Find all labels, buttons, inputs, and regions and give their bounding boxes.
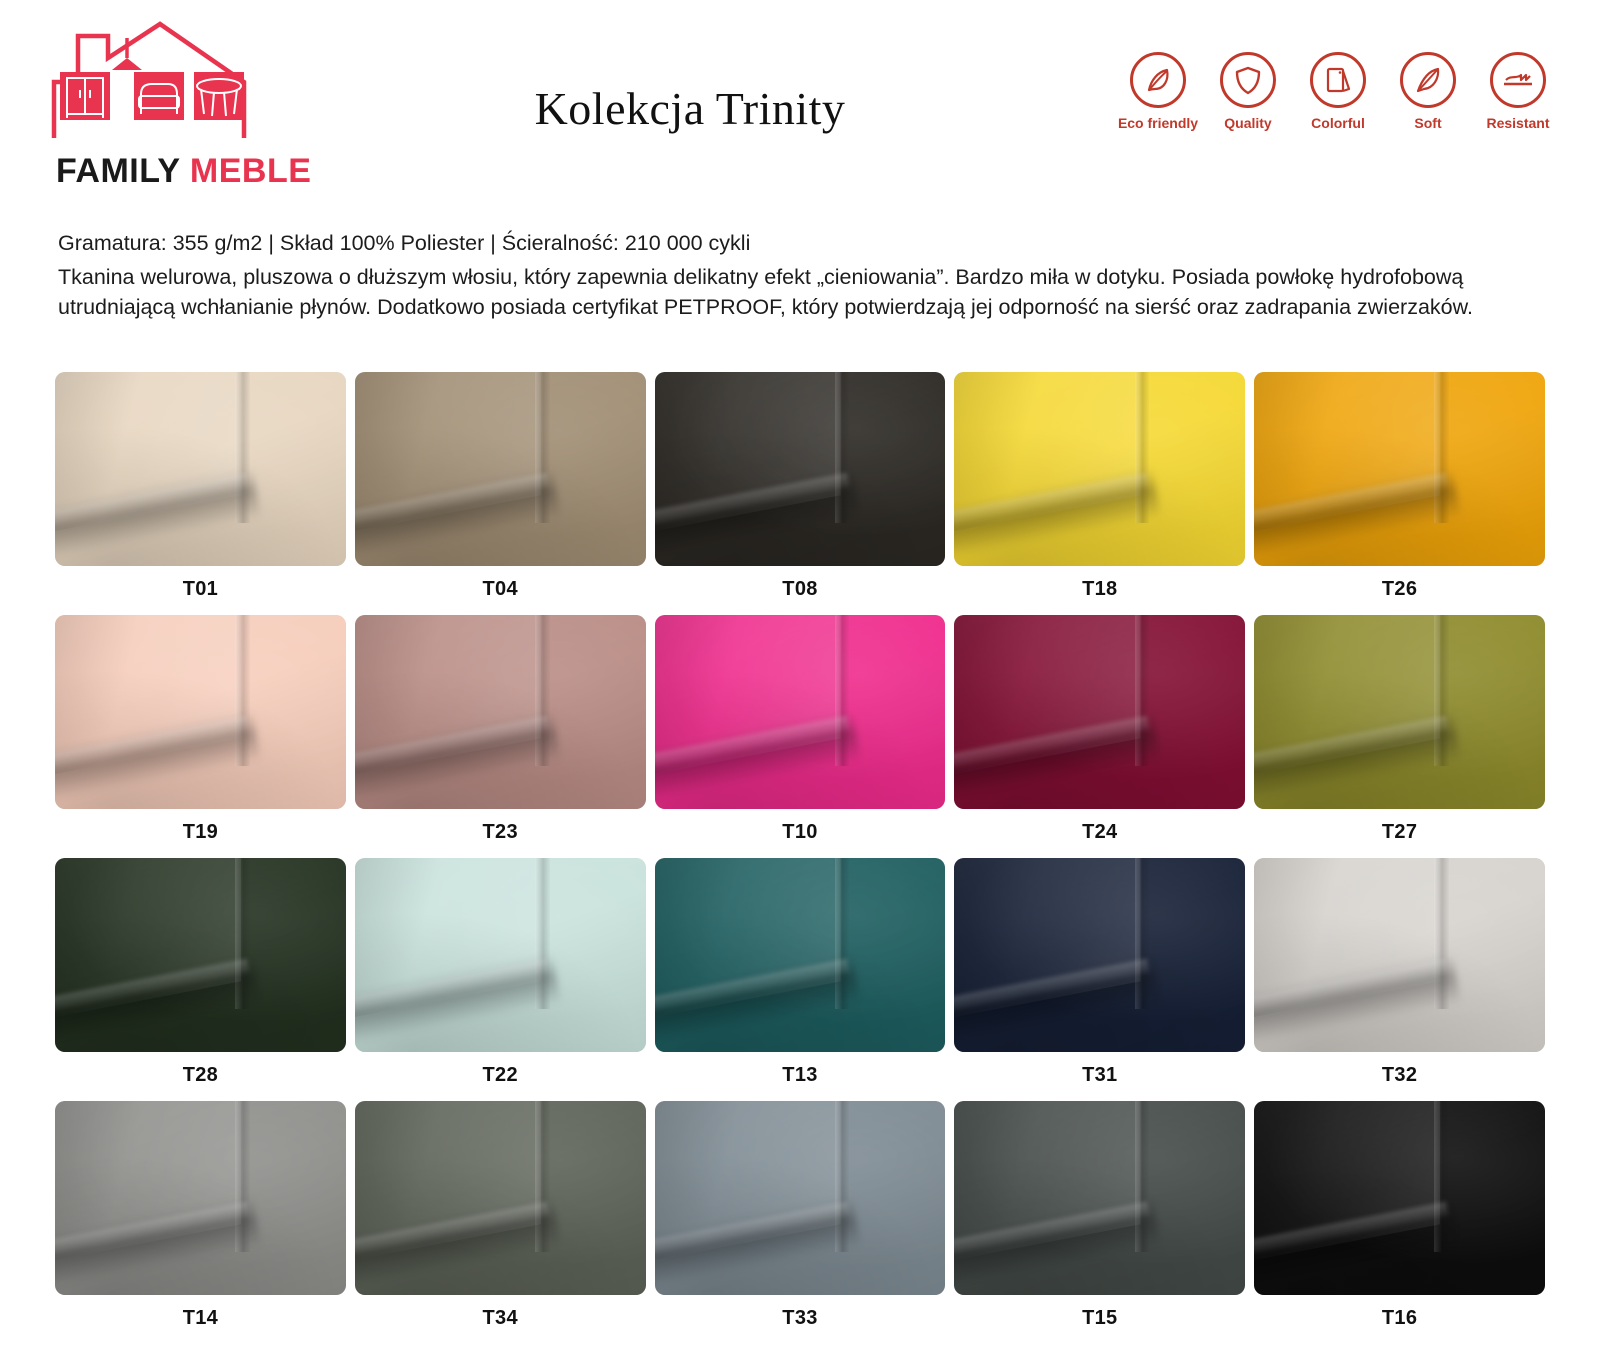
house-furniture-logo-icon [48,18,308,148]
swatch-code-label: T27 [1254,809,1545,858]
swatch-vignette [1254,372,1545,566]
fabric-swatch-image[interactable] [355,858,646,1052]
swatch-code-label: T08 [655,566,946,615]
abrasion-zigzag-icon [1501,64,1535,96]
brand-logo: FAMILY MEBLE [48,18,348,188]
swatch-code-label: T01 [55,566,346,615]
swatch-code-label: T33 [655,1295,946,1344]
swatch-vignette [954,858,1245,1052]
swatch-cell[interactable]: T13 [655,858,946,1101]
badge-resistant: Resistant [1488,52,1548,131]
swatch-vignette [954,615,1245,809]
swatch-cell[interactable]: T33 [655,1101,946,1344]
swatch-code-label: T31 [954,1052,1245,1101]
fabric-swatch-image[interactable] [355,372,646,566]
swatch-vignette [655,858,946,1052]
swatch-vignette [55,372,346,566]
swatch-code-label: T26 [1254,566,1545,615]
fabric-swatch-image[interactable] [1254,615,1545,809]
swatch-cell[interactable]: T26 [1254,372,1545,615]
swatch-cell[interactable]: T10 [655,615,946,858]
fabric-swatch-image[interactable] [954,615,1245,809]
fabric-swatch-image[interactable] [655,615,946,809]
fabric-collection-page: FAMILY MEBLE Kolekcja Trinity Eco friend… [0,0,1600,1355]
swatch-vignette [355,615,646,809]
shield-icon [1233,64,1263,96]
swatch-vignette [655,615,946,809]
swatch-code-label: T32 [1254,1052,1545,1101]
badge-circle [1310,52,1366,108]
swatch-code-label: T16 [1254,1295,1545,1344]
swatch-cell[interactable]: T27 [1254,615,1545,858]
fabric-swatch-image[interactable] [655,1101,946,1295]
fabric-swatch-image[interactable] [55,1101,346,1295]
swatch-code-label: T22 [355,1052,646,1101]
badge-circle [1130,52,1186,108]
badge-label: Eco friendly [1118,115,1198,131]
swatch-code-label: T19 [55,809,346,858]
swatch-vignette [1254,1101,1545,1295]
swatch-cell[interactable]: T14 [55,1101,346,1344]
fabric-spec-line: Gramatura: 355 g/m2 | Skład 100% Poliest… [58,228,1478,258]
fabric-swatch-image[interactable] [55,858,346,1052]
swatch-code-label: T34 [355,1295,646,1344]
fabric-swatch-image[interactable] [1254,372,1545,566]
swatch-cell[interactable]: T19 [55,615,346,858]
wordmark-family: FAMILY [56,152,180,190]
swatch-vignette [954,372,1245,566]
page-header: FAMILY MEBLE Kolekcja Trinity Eco friend… [0,0,1600,200]
fabric-swatch-image[interactable] [655,858,946,1052]
fabric-swatch-image[interactable] [954,1101,1245,1295]
badge-circle [1490,52,1546,108]
fabric-swatch-icon [1322,64,1354,96]
fabric-swatch-image[interactable] [55,615,346,809]
swatch-vignette [954,1101,1245,1295]
swatch-vignette [1254,858,1545,1052]
badge-quality: Quality [1218,52,1278,131]
fabric-swatch-image[interactable] [355,1101,646,1295]
swatch-cell[interactable]: T15 [954,1101,1245,1344]
swatch-vignette [655,1101,946,1295]
fabric-swatch-image[interactable] [1254,858,1545,1052]
swatch-code-label: T10 [655,809,946,858]
swatch-cell[interactable]: T01 [55,372,346,615]
swatch-cell[interactable]: T18 [954,372,1245,615]
feather-icon [1412,64,1444,96]
swatch-code-label: T04 [355,566,646,615]
swatch-code-label: T28 [55,1052,346,1101]
badge-label: Colorful [1311,115,1365,131]
swatch-cell[interactable]: T23 [355,615,646,858]
swatch-code-label: T23 [355,809,646,858]
wordmark-meble: MEBLE [190,152,312,190]
leaf-icon [1142,64,1174,96]
swatch-cell[interactable]: T34 [355,1101,646,1344]
swatch-code-label: T13 [655,1052,946,1101]
badge-label: Resistant [1486,115,1549,131]
swatch-code-label: T15 [954,1295,1245,1344]
fabric-swatch-image[interactable] [954,858,1245,1052]
badge-soft: Soft [1398,52,1458,131]
swatch-vignette [1254,615,1545,809]
badge-eco-friendly: Eco friendly [1128,52,1188,131]
fabric-description: Gramatura: 355 g/m2 | Skład 100% Poliest… [58,228,1478,322]
swatch-vignette [55,615,346,809]
swatch-vignette [655,372,946,566]
badge-colorful: Colorful [1308,52,1368,131]
fabric-swatch-image[interactable] [655,372,946,566]
swatch-vignette [55,1101,346,1295]
swatch-cell[interactable]: T31 [954,858,1245,1101]
badge-circle [1220,52,1276,108]
fabric-swatch-image[interactable] [954,372,1245,566]
swatch-cell[interactable]: T28 [55,858,346,1101]
swatch-vignette [355,858,646,1052]
fabric-swatch-image[interactable] [355,615,646,809]
feature-badges: Eco friendly Quality C [1128,52,1548,131]
fabric-swatch-image[interactable] [1254,1101,1545,1295]
badge-label: Quality [1224,115,1271,131]
swatch-cell[interactable]: T16 [1254,1101,1545,1344]
swatch-cell[interactable]: T22 [355,858,646,1101]
brand-wordmark: FAMILY MEBLE [56,152,311,191]
swatch-cell[interactable]: T08 [655,372,946,615]
swatch-vignette [355,372,646,566]
fabric-description-body: Tkanina welurowa, pluszowa o dłuższym wł… [58,262,1478,322]
swatch-vignette [355,1101,646,1295]
swatch-code-label: T24 [954,809,1245,858]
fabric-swatch-grid: T01T04T08T18T26T19T23T10T24T27T28T22T13T… [55,372,1545,1344]
swatch-cell[interactable]: T04 [355,372,646,615]
page-title-text: Kolekcja Trinity [535,82,846,135]
fabric-swatch-image[interactable] [55,372,346,566]
badge-label: Soft [1414,115,1441,131]
swatch-cell[interactable]: T32 [1254,858,1545,1101]
badge-circle [1400,52,1456,108]
swatch-code-label: T18 [954,566,1245,615]
swatch-vignette [55,858,346,1052]
swatch-cell[interactable]: T24 [954,615,1245,858]
swatch-code-label: T14 [55,1295,346,1344]
